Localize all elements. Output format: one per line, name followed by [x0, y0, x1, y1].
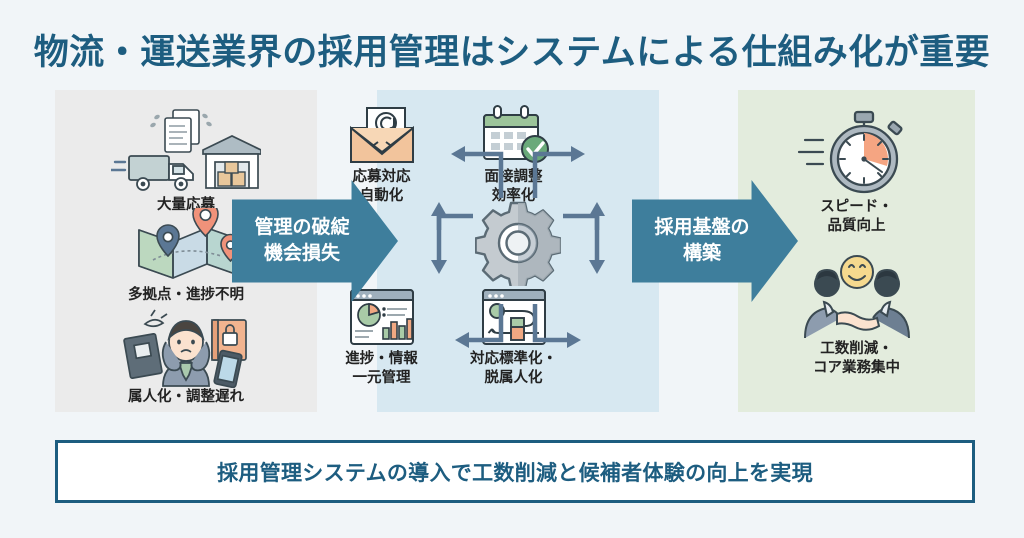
problem-label-2: 属人化・調整遅れ	[55, 388, 317, 407]
arrow-label-1: 採用基盤の 構築	[654, 215, 749, 266]
page-title: 物流・運送業界の採用管理はシステムによる仕組み化が重要	[0, 24, 1024, 75]
system-item-0: 応募対応 自動化	[311, 102, 452, 205]
stressed-person-icon	[111, 302, 261, 388]
system-item-3: 対応標準化・ 脱属人化	[443, 286, 584, 387]
system-label-2: 進捗・情報 一元管理	[311, 350, 452, 387]
system-item-1: 面接調整 効率化	[443, 102, 584, 205]
calendar-check-icon	[472, 102, 556, 168]
problem-item-2: 属人化・調整遅れ	[55, 302, 317, 407]
system-label-3: 対応標準化・ 脱属人化	[443, 350, 584, 387]
arrow-label-0: 管理の破綻 機会損失	[254, 215, 349, 266]
handshake-smile-icon	[787, 254, 927, 340]
truck-warehouse-documents-icon	[111, 104, 261, 196]
gear-icon	[475, 200, 561, 286]
stopwatch-icon	[797, 106, 917, 198]
result-label-1: 工数削減・ コア業務集中	[738, 340, 975, 377]
email-envelope-icon	[343, 102, 421, 168]
system-item-2: 進捗・情報 一元管理	[311, 286, 452, 387]
summary-banner-text: 採用管理システムの導入で工数削減と候補者体験の向上を実現	[217, 457, 813, 487]
summary-banner: 採用管理システムの導入で工数削減と候補者体験の向上を実現	[55, 440, 975, 503]
problem-item-0: 大量応募	[55, 104, 317, 215]
workflow-icon	[475, 286, 553, 350]
infographic-root: 物流・運送業界の採用管理はシステムによる仕組み化が重要	[0, 0, 1024, 538]
